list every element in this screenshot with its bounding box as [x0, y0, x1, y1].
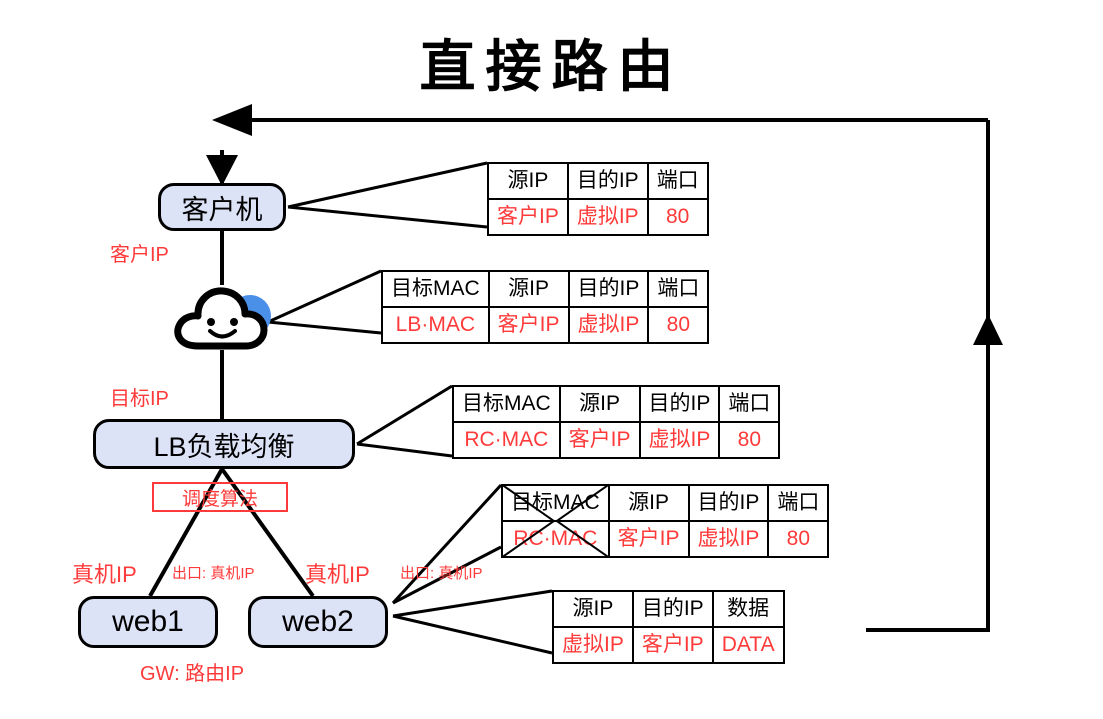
node-lb-label: LB负载均衡 — [153, 425, 294, 464]
table-value-text: RC·MAC — [513, 527, 597, 550]
label-client-ip: 客户IP — [110, 238, 169, 267]
node-web1[interactable]: web1 — [78, 596, 218, 648]
label-real-ip-web2: 真机IP — [305, 557, 370, 589]
node-load-balancer[interactable]: LB负载均衡 — [93, 419, 355, 469]
table-value-cell: LB·MAC — [382, 307, 489, 343]
packet-table-cloud-to-lb: 目标MAC 源IP 目的IP 端口 LB·MAC 客户IP 虚拟IP 80 — [381, 270, 709, 344]
table-value-cell: 虚拟IP — [553, 627, 633, 663]
table-header-cell: 端口 — [648, 163, 708, 199]
table-header-cell: 源IP — [489, 271, 569, 307]
table-header-cell-struck: 目标MAC — [502, 485, 609, 521]
label-target-ip: 目标IP — [110, 382, 169, 411]
table-row-values: LB·MAC 客户IP 虚拟IP 80 — [382, 307, 708, 343]
table-value-cell: 客户IP — [609, 521, 689, 557]
table-value-cell: 虚拟IP — [568, 199, 648, 235]
label-schedule-algorithm: 调度算法 — [152, 482, 288, 512]
table-header-cell: 源IP — [553, 591, 633, 627]
table-row-values: RC·MAC 客户IP 虚拟IP 80 — [453, 422, 779, 458]
node-web2[interactable]: web2 — [248, 596, 388, 648]
table-value-cell: 客户IP — [633, 627, 713, 663]
table-value-cell: DATA — [713, 627, 784, 663]
table-row-headers: 目标MAC 源IP 目的IP 端口 — [453, 386, 779, 422]
table-header-cell: 源IP — [488, 163, 568, 199]
table-header-cell: 端口 — [648, 271, 708, 307]
table-row-headers: 源IP 目的IP 数据 — [553, 591, 784, 627]
table-value-cell: 客户IP — [489, 307, 569, 343]
table-value-cell: RC·MAC — [453, 422, 560, 458]
cloud-icon — [168, 278, 280, 358]
table-header-cell: 目标MAC — [453, 386, 560, 422]
page-title: 直接路由 — [0, 22, 1103, 103]
table-header-cell: 目的IP — [640, 386, 720, 422]
table-header-cell: 源IP — [560, 386, 640, 422]
table-header-cell: 目的IP — [569, 271, 649, 307]
table-row-headers: 目标MAC 源IP 目的IP 端口 — [382, 271, 708, 307]
node-client-label: 客户机 — [182, 188, 263, 227]
packet-table-lb-rewritten: 目标MAC 源IP 目的IP 端口 RC·MAC 客户IP 虚拟IP 80 — [452, 385, 780, 459]
table-header-cell: 目的IP — [689, 485, 769, 521]
table-value-cell: 80 — [768, 521, 828, 557]
table-header-text: 目标MAC — [511, 491, 600, 514]
label-gateway: GW: 路由IP — [140, 657, 244, 686]
label-exit-real-ip-web1: 出口: 真机IP — [172, 562, 255, 583]
node-web1-label: web1 — [112, 605, 184, 639]
table-row-values: 客户IP 虚拟IP 80 — [488, 199, 708, 235]
table-header-cell: 端口 — [768, 485, 828, 521]
table-value-cell: 虚拟IP — [689, 521, 769, 557]
table-row-headers: 目标MAC 源IP 目的IP 端口 — [502, 485, 828, 521]
table-value-cell: 80 — [648, 199, 708, 235]
table-header-cell: 目的IP — [568, 163, 648, 199]
table-value-cell: 虚拟IP — [640, 422, 720, 458]
packet-table-response: 源IP 目的IP 数据 虚拟IP 客户IP DATA — [552, 590, 785, 664]
packet-table-realserver-received: 目标MAC 源IP 目的IP 端口 RC·MAC 客户IP 虚拟IP 80 — [501, 484, 829, 558]
table-value-cell: 客户IP — [560, 422, 640, 458]
node-web2-label: web2 — [282, 605, 354, 639]
table-header-cell: 目标MAC — [382, 271, 489, 307]
packet-table-client-request: 源IP 目的IP 端口 客户IP 虚拟IP 80 — [487, 162, 709, 236]
table-header-cell: 数据 — [713, 591, 784, 627]
table-value-cell: 80 — [719, 422, 779, 458]
table-row-values: RC·MAC 客户IP 虚拟IP 80 — [502, 521, 828, 557]
label-real-ip-web1: 真机IP — [72, 557, 137, 589]
table-header-cell: 目的IP — [633, 591, 713, 627]
table-value-cell: 虚拟IP — [569, 307, 649, 343]
table-header-cell: 源IP — [609, 485, 689, 521]
table-row-values: 虚拟IP 客户IP DATA — [553, 627, 784, 663]
table-row-headers: 源IP 目的IP 端口 — [488, 163, 708, 199]
label-exit-real-ip-web2: 出口: 真机IP — [400, 562, 483, 583]
diagram-canvas: 直接路由 客户机 LB负载均衡 web1 web2 客户IP 目标IP 调度算法… — [0, 0, 1103, 719]
table-value-cell: 80 — [648, 307, 708, 343]
table-header-cell: 端口 — [719, 386, 779, 422]
table-value-cell: 客户IP — [488, 199, 568, 235]
node-client[interactable]: 客户机 — [158, 183, 286, 231]
table-value-cell-struck: RC·MAC — [502, 521, 609, 557]
